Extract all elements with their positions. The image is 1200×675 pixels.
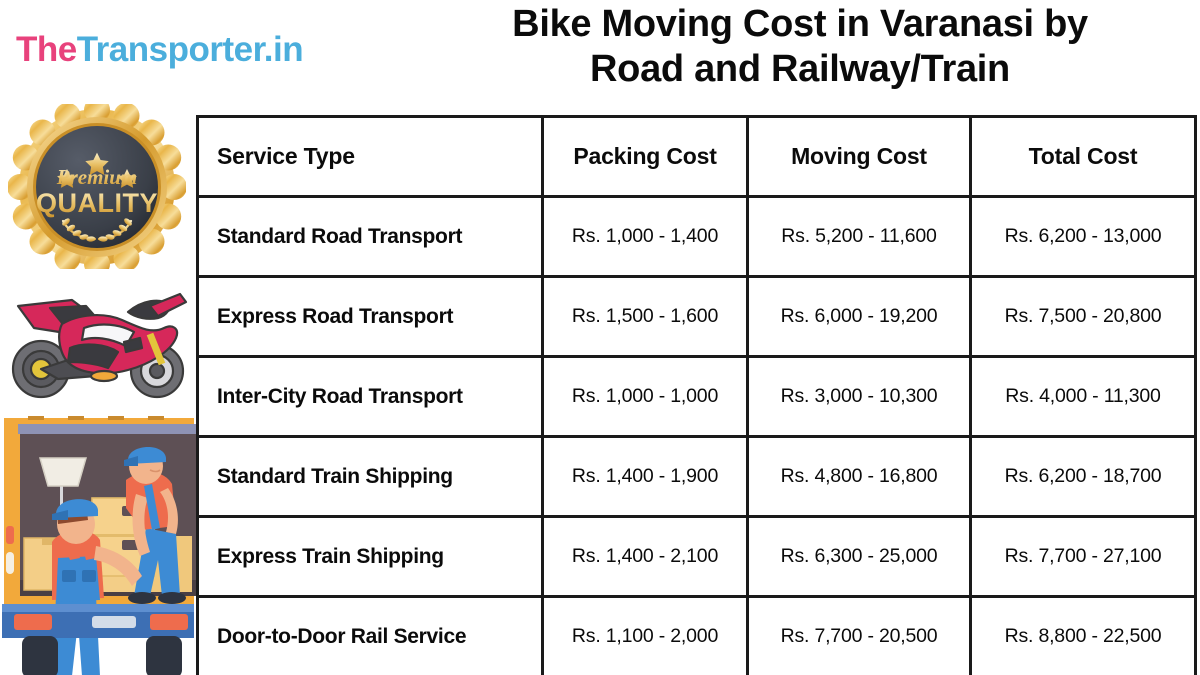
cell-moving-cost: Rs. 5,200 - 11,600 [748, 197, 971, 277]
motorcycle-illustration [0, 276, 196, 404]
page-title-line-1: Bike Moving Cost in Varanasi by [410, 2, 1190, 47]
cell-moving-cost: Rs. 6,000 - 19,200 [748, 277, 971, 357]
cell-service-type: Standard Road Transport [198, 197, 543, 277]
site-logo[interactable]: TheTransporter.in [16, 30, 303, 70]
motorcycle-icon [0, 276, 196, 404]
premium-quality-badge: Premium QUALITY [8, 104, 186, 269]
page-title-line-2: Road and Railway/Train [410, 47, 1190, 92]
movers-truck-icon [0, 410, 196, 675]
cell-total-cost: Rs. 7,700 - 27,100 [971, 517, 1196, 597]
cell-service-type: Standard Train Shipping [198, 437, 543, 517]
cell-total-cost: Rs. 6,200 - 13,000 [971, 197, 1196, 277]
table-row: Express Road Transport Rs. 1,500 - 1,600… [198, 277, 1196, 357]
cell-total-cost: Rs. 7,500 - 20,800 [971, 277, 1196, 357]
table-row: Express Train Shipping Rs. 1,400 - 2,100… [198, 517, 1196, 597]
table-row: Inter-City Road Transport Rs. 1,000 - 1,… [198, 357, 1196, 437]
cell-packing-cost: Rs. 1,100 - 2,000 [543, 597, 748, 675]
infographic-page: TheTransporter.in Bike Moving Cost in Va… [0, 0, 1200, 675]
table-row: Door-to-Door Rail Service Rs. 1,100 - 2,… [198, 597, 1196, 675]
column-header-packing-cost: Packing Cost [543, 117, 748, 197]
table-header-row: Service Type Packing Cost Moving Cost To… [198, 117, 1196, 197]
cell-packing-cost: Rs. 1,400 - 2,100 [543, 517, 748, 597]
truck-loading-illustration [0, 410, 196, 675]
column-header-moving-cost: Moving Cost [748, 117, 971, 197]
cell-service-type: Inter-City Road Transport [198, 357, 543, 437]
cell-service-type: Express Train Shipping [198, 517, 543, 597]
cell-total-cost: Rs. 6,200 - 18,700 [971, 437, 1196, 517]
cell-service-type: Door-to-Door Rail Service [198, 597, 543, 675]
svg-text:QUALITY: QUALITY [36, 188, 158, 218]
cost-table: Service Type Packing Cost Moving Cost To… [196, 115, 1197, 675]
cell-moving-cost: Rs. 3,000 - 10,300 [748, 357, 971, 437]
premium-quality-badge-icon: Premium QUALITY [8, 104, 186, 269]
cell-packing-cost: Rs. 1,000 - 1,000 [543, 357, 748, 437]
cell-total-cost: Rs. 4,000 - 11,300 [971, 357, 1196, 437]
cell-moving-cost: Rs. 6,300 - 25,000 [748, 517, 971, 597]
illustration-rail: Premium QUALITY [0, 104, 196, 675]
cell-packing-cost: Rs. 1,400 - 1,900 [543, 437, 748, 517]
svg-text:Premium: Premium [56, 165, 138, 189]
logo-text-the: The [16, 30, 77, 69]
page-title: Bike Moving Cost in Varanasi by Road and… [410, 2, 1190, 92]
table-row: Standard Train Shipping Rs. 1,400 - 1,90… [198, 437, 1196, 517]
cost-table-container: Service Type Packing Cost Moving Cost To… [196, 115, 1194, 675]
logo-text-transporter: Transporter.in [77, 30, 303, 69]
cell-service-type: Express Road Transport [198, 277, 543, 357]
cell-moving-cost: Rs. 4,800 - 16,800 [748, 437, 971, 517]
cell-packing-cost: Rs. 1,500 - 1,600 [543, 277, 748, 357]
table-row: Standard Road Transport Rs. 1,000 - 1,40… [198, 197, 1196, 277]
cell-total-cost: Rs. 8,800 - 22,500 [971, 597, 1196, 675]
column-header-service-type: Service Type [198, 117, 543, 197]
cell-packing-cost: Rs. 1,000 - 1,400 [543, 197, 748, 277]
column-header-total-cost: Total Cost [971, 117, 1196, 197]
cell-moving-cost: Rs. 7,700 - 20,500 [748, 597, 971, 675]
